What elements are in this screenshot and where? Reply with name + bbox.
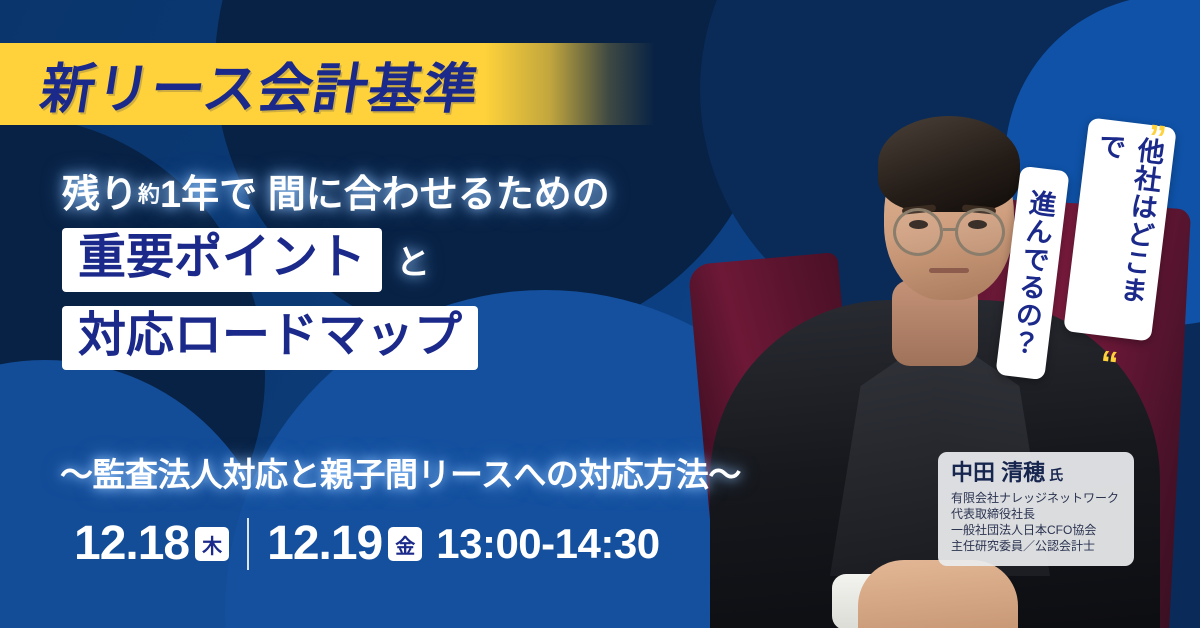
credential-line: 有限会社ナレッジネットワーク	[951, 491, 1123, 507]
glasses-icon	[955, 208, 1005, 256]
banner-title: 新リース会計基準	[36, 45, 486, 124]
subtitle-text: 〜監査法人対応と親子間リースへの対応方法〜	[60, 448, 741, 496]
photo-mouth	[929, 268, 969, 273]
schedule-row: 12.18 木 12.19 金 13:00-14:30	[74, 518, 660, 570]
day-badge-1: 木	[195, 527, 229, 561]
quote-open-icon: “	[1098, 345, 1120, 383]
keyword-box-1: 重要ポイント	[62, 228, 382, 292]
credential-line: 主任研究委員／公認会計士	[951, 539, 1123, 555]
lead-text: 残り約1年で 間に合わせるための	[62, 176, 822, 214]
headline-block: 残り約1年で 間に合わせるための 重要ポイント と 対応ロードマップ	[62, 176, 822, 370]
keyword-row-2: 対応ロードマップ	[62, 306, 822, 370]
title-band: 新リース会計基準	[0, 43, 655, 125]
speech-bubble: 他社はどこまで 進んでるの？ ” “	[1000, 118, 1185, 378]
credential-line: 一般社団法人日本CFO協会	[951, 523, 1123, 539]
date-1: 12.18	[74, 520, 189, 568]
speaker-name-suffix: 氏	[1049, 467, 1063, 483]
seminar-banner: 新リース会計基準 残り約1年で 間に合わせるための 重要ポイント と 対応ロード…	[0, 0, 1200, 628]
speaker-card: 中田 清穂氏 有限会社ナレッジネットワーク 代表取締役社長 一般社団法人日本CF…	[938, 452, 1134, 566]
credential-line: 代表取締役社長	[951, 507, 1123, 523]
speaker-credentials: 有限会社ナレッジネットワーク 代表取締役社長 一般社団法人日本CFO協会 主任研…	[951, 491, 1123, 554]
date-separator	[247, 518, 249, 570]
speaker-name: 中田 清穂	[951, 460, 1045, 485]
lead-prefix: 残り	[62, 174, 138, 216]
lead-approx: 約	[138, 182, 160, 207]
date-2: 12.19	[267, 520, 382, 568]
keyword-2-text: 対応ロードマップ	[78, 311, 462, 362]
photo-clasped-hands	[858, 560, 1018, 628]
keyword-box-2: 対応ロードマップ	[62, 306, 478, 370]
glasses-bridge	[943, 228, 957, 231]
lead-suffix: 1年で 間に合わせるための	[160, 174, 610, 216]
keyword-1-text: 重要ポイント	[78, 233, 366, 284]
speaker-name-row: 中田 清穂氏	[951, 461, 1123, 485]
keyword-row-1: 重要ポイント と	[62, 228, 822, 292]
photo-hair	[878, 116, 1020, 212]
glasses-icon	[893, 208, 943, 256]
time-range: 13:00-14:30	[436, 523, 659, 565]
day-badge-2: 金	[388, 527, 422, 561]
bubble-line-2: 進んでるの？	[995, 166, 1069, 380]
keyword-conjunction: と	[396, 235, 430, 284]
